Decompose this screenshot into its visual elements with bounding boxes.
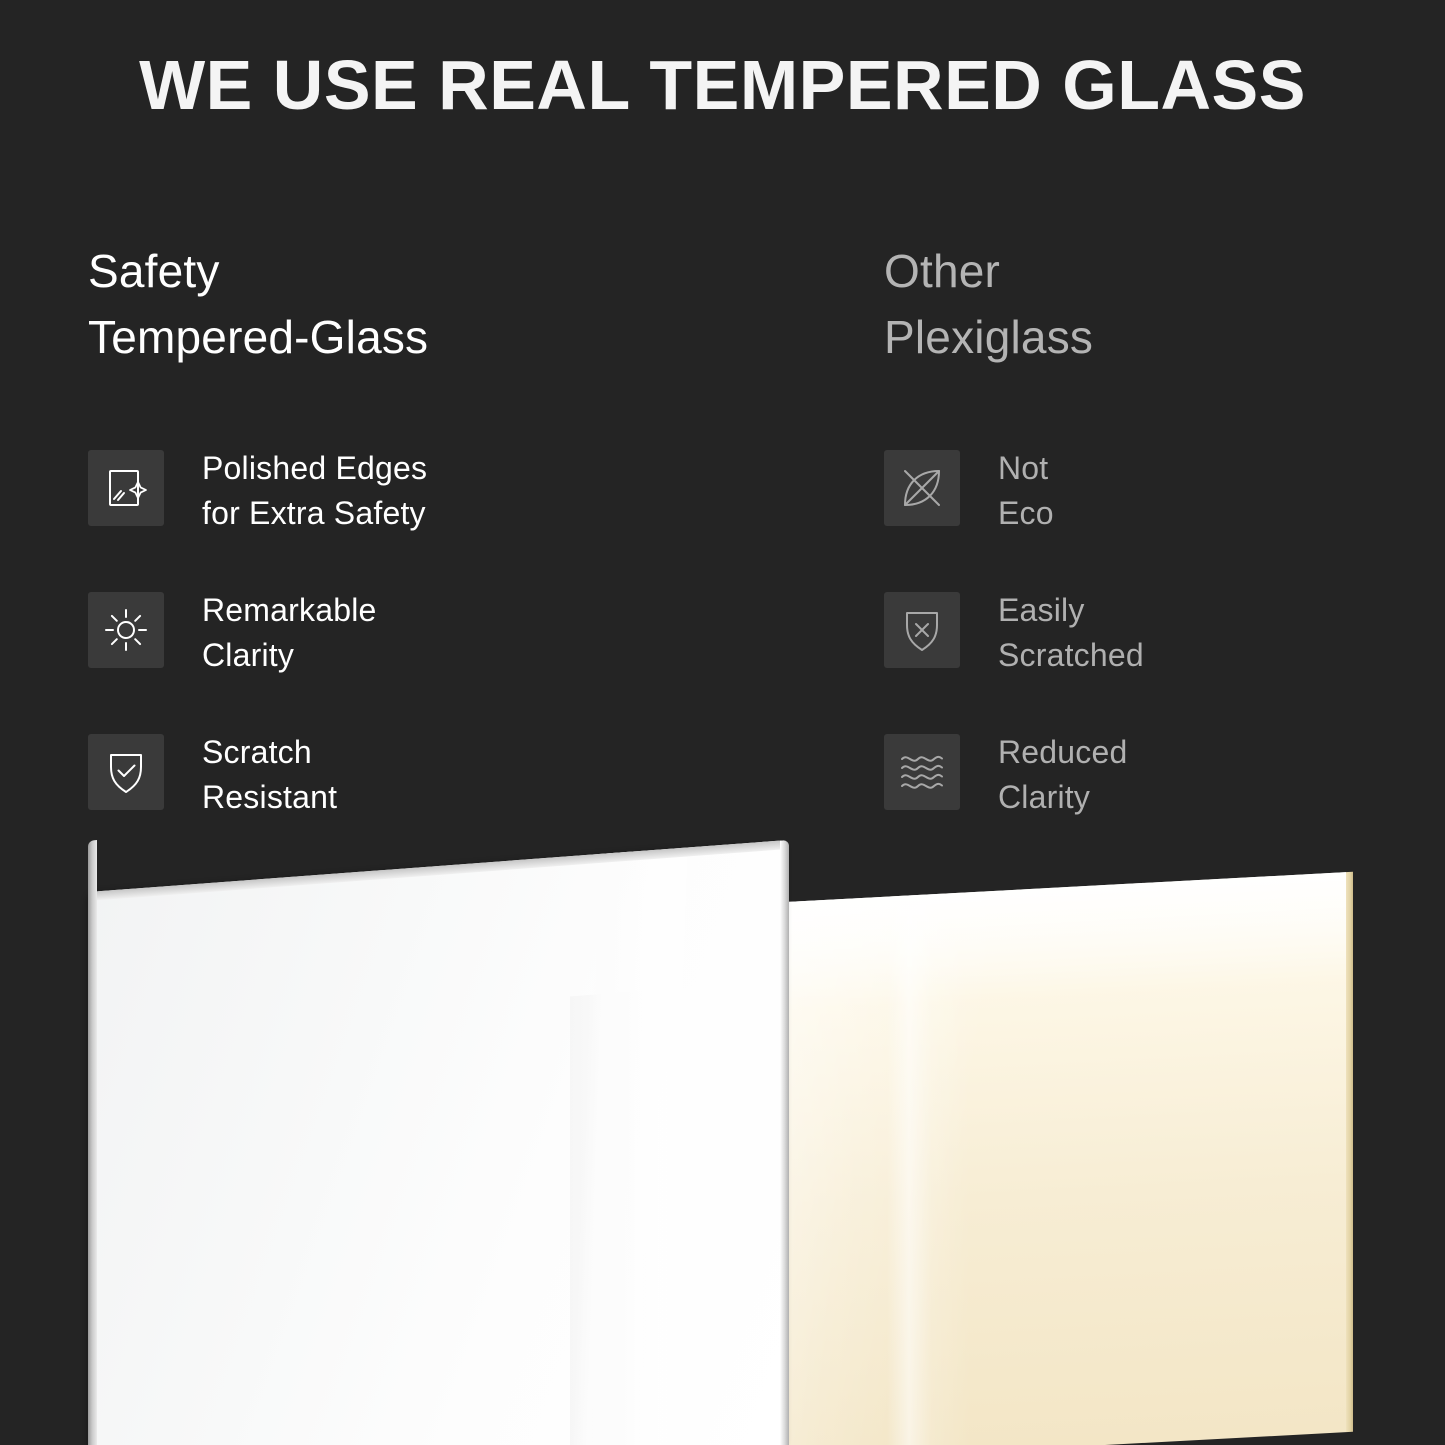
feature-item: Polished Edges for Extra Safety (88, 446, 648, 588)
feature-label: Scratch Resistant (202, 730, 337, 820)
feature-label: Easily Scratched (998, 588, 1144, 678)
feature-item: Easily Scratched (884, 588, 1444, 730)
polished-glass-panel-icon (88, 450, 164, 526)
feature-item: Remarkable Clarity (88, 588, 648, 730)
shield-x-icon (884, 592, 960, 668)
column-right-title-line2: Plexiglass (884, 304, 1444, 370)
plexiglass-panel (786, 872, 1346, 1445)
feature-list-left: Polished Edges for Extra Safety Remarkab… (88, 446, 648, 872)
feature-label: Remarkable Clarity (202, 588, 377, 678)
page-title: WE USE REAL TEMPERED GLASS (0, 42, 1445, 128)
feature-item: Not Eco (884, 446, 1444, 588)
feature-label: Not Eco (998, 446, 1054, 536)
column-left-title-line1: Safety (88, 238, 648, 304)
column-right-title-line1: Other (884, 238, 1444, 304)
tempered-glass-panel (88, 840, 788, 1445)
sun-icon (88, 592, 164, 668)
wavy-lines-icon (884, 734, 960, 810)
shield-check-icon (88, 734, 164, 810)
feature-label: Polished Edges for Extra Safety (202, 446, 427, 536)
glass-panels-photo (0, 840, 1445, 1445)
infographic-root: WE USE REAL TEMPERED GLASS Safety Temper… (0, 0, 1445, 1445)
column-left: Safety Tempered-Glass (88, 238, 648, 370)
column-right: Other Plexiglass (884, 238, 1444, 370)
leaf-crossed-out-icon (884, 450, 960, 526)
feature-list-right: Not Eco Easily Scratched (884, 446, 1444, 872)
feature-label: Reduced Clarity (998, 730, 1128, 820)
column-left-title-line2: Tempered-Glass (88, 304, 648, 370)
